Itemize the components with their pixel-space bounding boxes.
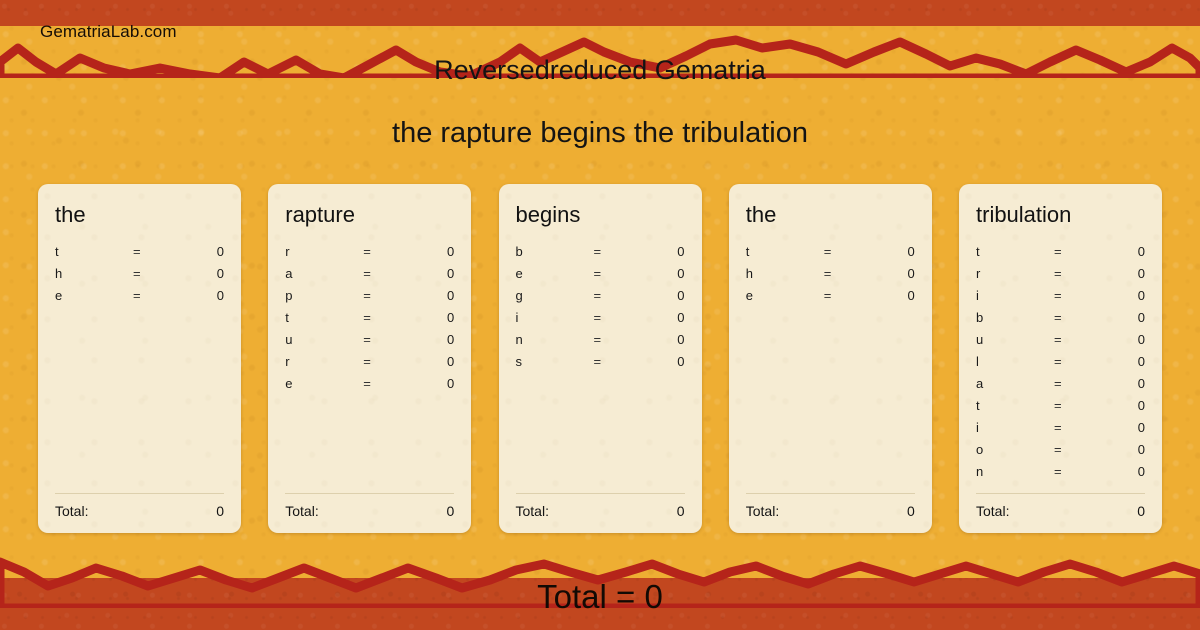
letter-label: p xyxy=(285,288,363,303)
equals-sign: = xyxy=(1054,420,1100,435)
letter-label: l xyxy=(976,354,1054,369)
header-titles: Reversedreduced Gematria the rapture beg… xyxy=(0,54,1200,151)
card-word: the xyxy=(746,202,915,228)
card-word: tribulation xyxy=(976,202,1145,228)
letter-value: 0 xyxy=(409,376,454,391)
letter-value: 0 xyxy=(409,244,454,259)
equals-sign: = xyxy=(1054,332,1100,347)
letter-row: h=0 xyxy=(55,266,224,288)
phrase-title: the rapture begins the tribulation xyxy=(0,116,1200,151)
letter-label: u xyxy=(285,332,363,347)
letter-row: o=0 xyxy=(976,442,1145,464)
letter-value: 0 xyxy=(179,266,224,281)
card-word: begins xyxy=(516,202,685,228)
grand-total: Total = 0 xyxy=(0,578,1200,616)
letter-label: h xyxy=(746,266,824,281)
letter-label: t xyxy=(285,310,363,325)
card-total-label: Total: xyxy=(516,503,549,519)
letter-label: r xyxy=(285,354,363,369)
equals-sign: = xyxy=(133,244,179,259)
letter-row: b=0 xyxy=(516,244,685,266)
letter-value: 0 xyxy=(640,266,685,281)
letter-label: b xyxy=(516,244,594,259)
equals-sign: = xyxy=(594,244,640,259)
word-card: beginsb=0e=0g=0i=0n=0s=0Total:0 xyxy=(499,184,702,533)
equals-sign: = xyxy=(363,332,409,347)
letter-value: 0 xyxy=(640,332,685,347)
equals-sign: = xyxy=(363,288,409,303)
letter-label: n xyxy=(516,332,594,347)
letter-row: u=0 xyxy=(976,332,1145,354)
card-total-value: 0 xyxy=(907,503,915,519)
letter-rows: t=0h=0e=0 xyxy=(55,244,224,493)
letter-row: e=0 xyxy=(285,376,454,398)
letter-value: 0 xyxy=(179,244,224,259)
equals-sign: = xyxy=(363,354,409,369)
letter-label: b xyxy=(976,310,1054,325)
letter-label: e xyxy=(516,266,594,281)
equals-sign: = xyxy=(594,288,640,303)
card-total-label: Total: xyxy=(285,503,318,519)
letter-value: 0 xyxy=(640,288,685,303)
letter-label: e xyxy=(55,288,133,303)
letter-rows: r=0a=0p=0t=0u=0r=0e=0 xyxy=(285,244,454,493)
card-divider xyxy=(285,493,454,494)
word-card: thet=0h=0e=0Total:0 xyxy=(38,184,241,533)
equals-sign: = xyxy=(1054,376,1100,391)
equals-sign: = xyxy=(1054,266,1100,281)
letter-row: s=0 xyxy=(516,354,685,376)
card-divider xyxy=(516,493,685,494)
equals-sign: = xyxy=(363,310,409,325)
equals-sign: = xyxy=(1054,442,1100,457)
letter-value: 0 xyxy=(1100,244,1145,259)
letter-value: 0 xyxy=(1100,376,1145,391)
letter-value: 0 xyxy=(1100,398,1145,413)
letter-label: i xyxy=(976,288,1054,303)
letter-value: 0 xyxy=(1100,310,1145,325)
letter-label: u xyxy=(976,332,1054,347)
card-total-label: Total: xyxy=(55,503,88,519)
card-total-row: Total:0 xyxy=(516,503,685,519)
equals-sign: = xyxy=(824,266,870,281)
equals-sign: = xyxy=(133,266,179,281)
equals-sign: = xyxy=(594,310,640,325)
card-total-value: 0 xyxy=(677,503,685,519)
card-word: rapture xyxy=(285,202,454,228)
letter-value: 0 xyxy=(640,354,685,369)
letter-label: n xyxy=(976,464,1054,479)
letter-row: i=0 xyxy=(976,420,1145,442)
letter-row: t=0 xyxy=(55,244,224,266)
equals-sign: = xyxy=(594,332,640,347)
letter-row: p=0 xyxy=(285,288,454,310)
letter-value: 0 xyxy=(409,354,454,369)
letter-value: 0 xyxy=(409,332,454,347)
letter-row: r=0 xyxy=(285,244,454,266)
card-word: the xyxy=(55,202,224,228)
letter-value: 0 xyxy=(870,244,915,259)
card-total-row: Total:0 xyxy=(746,503,915,519)
letter-row: r=0 xyxy=(976,266,1145,288)
letter-label: o xyxy=(976,442,1054,457)
letter-label: r xyxy=(285,244,363,259)
letter-label: i xyxy=(516,310,594,325)
card-total-value: 0 xyxy=(446,503,454,519)
letter-value: 0 xyxy=(409,288,454,303)
letter-label: t xyxy=(976,244,1054,259)
letter-value: 0 xyxy=(409,310,454,325)
letter-value: 0 xyxy=(640,310,685,325)
letter-row: a=0 xyxy=(976,376,1145,398)
card-divider xyxy=(55,493,224,494)
card-divider xyxy=(746,493,915,494)
letter-row: i=0 xyxy=(516,310,685,332)
letter-rows: t=0r=0i=0b=0u=0l=0a=0t=0i=0o=0n=0 xyxy=(976,244,1145,493)
letter-label: g xyxy=(516,288,594,303)
letter-value: 0 xyxy=(1100,266,1145,281)
equals-sign: = xyxy=(363,266,409,281)
letter-row: e=0 xyxy=(746,288,915,310)
card-total-label: Total: xyxy=(976,503,1009,519)
letter-label: a xyxy=(976,376,1054,391)
equals-sign: = xyxy=(1054,354,1100,369)
equals-sign: = xyxy=(594,266,640,281)
equals-sign: = xyxy=(824,288,870,303)
card-total-row: Total:0 xyxy=(285,503,454,519)
letter-row: u=0 xyxy=(285,332,454,354)
letter-label: e xyxy=(746,288,824,303)
letter-row: t=0 xyxy=(746,244,915,266)
letter-row: g=0 xyxy=(516,288,685,310)
card-total-value: 0 xyxy=(1137,503,1145,519)
equals-sign: = xyxy=(1054,288,1100,303)
letter-value: 0 xyxy=(1100,420,1145,435)
letter-value: 0 xyxy=(1100,288,1145,303)
equals-sign: = xyxy=(1054,244,1100,259)
equals-sign: = xyxy=(363,244,409,259)
letter-row: b=0 xyxy=(976,310,1145,332)
letter-label: t xyxy=(55,244,133,259)
letter-rows: t=0h=0e=0 xyxy=(746,244,915,493)
letter-value: 0 xyxy=(870,266,915,281)
letter-value: 0 xyxy=(409,266,454,281)
letter-row: a=0 xyxy=(285,266,454,288)
letter-row: n=0 xyxy=(976,464,1145,486)
card-total-label: Total: xyxy=(746,503,779,519)
word-card: rapturer=0a=0p=0t=0u=0r=0e=0Total:0 xyxy=(268,184,471,533)
letter-label: h xyxy=(55,266,133,281)
equals-sign: = xyxy=(824,244,870,259)
card-total-row: Total:0 xyxy=(976,503,1145,519)
letter-row: t=0 xyxy=(976,398,1145,420)
letter-value: 0 xyxy=(1100,464,1145,479)
letter-row: l=0 xyxy=(976,354,1145,376)
letter-row: i=0 xyxy=(976,288,1145,310)
word-cards-container: thet=0h=0e=0Total:0rapturer=0a=0p=0t=0u=… xyxy=(38,184,1162,533)
site-logo[interactable]: GematriaLab.com xyxy=(40,22,177,42)
card-total-row: Total:0 xyxy=(55,503,224,519)
letter-value: 0 xyxy=(1100,442,1145,457)
letter-value: 0 xyxy=(1100,332,1145,347)
letter-row: e=0 xyxy=(516,266,685,288)
letter-row: n=0 xyxy=(516,332,685,354)
letter-value: 0 xyxy=(1100,354,1145,369)
letter-label: i xyxy=(976,420,1054,435)
word-card: tribulationt=0r=0i=0b=0u=0l=0a=0t=0i=0o=… xyxy=(959,184,1162,533)
letter-label: t xyxy=(746,244,824,259)
letter-label: e xyxy=(285,376,363,391)
letter-rows: b=0e=0g=0i=0n=0s=0 xyxy=(516,244,685,493)
letter-value: 0 xyxy=(640,244,685,259)
gematria-result-card: GematriaLab.com Reversedreduced Gematria… xyxy=(0,0,1200,630)
equals-sign: = xyxy=(1054,398,1100,413)
letter-value: 0 xyxy=(870,288,915,303)
letter-row: e=0 xyxy=(55,288,224,310)
equals-sign: = xyxy=(363,376,409,391)
card-divider xyxy=(976,493,1145,494)
letter-label: t xyxy=(976,398,1054,413)
word-card: thet=0h=0e=0Total:0 xyxy=(729,184,932,533)
equals-sign: = xyxy=(1054,310,1100,325)
letter-row: t=0 xyxy=(285,310,454,332)
letter-row: t=0 xyxy=(976,244,1145,266)
letter-value: 0 xyxy=(179,288,224,303)
letter-label: r xyxy=(976,266,1054,281)
letter-label: s xyxy=(516,354,594,369)
equals-sign: = xyxy=(594,354,640,369)
card-total-value: 0 xyxy=(216,503,224,519)
equals-sign: = xyxy=(1054,464,1100,479)
letter-label: a xyxy=(285,266,363,281)
letter-row: h=0 xyxy=(746,266,915,288)
equals-sign: = xyxy=(133,288,179,303)
letter-row: r=0 xyxy=(285,354,454,376)
cipher-title: Reversedreduced Gematria xyxy=(0,54,1200,86)
